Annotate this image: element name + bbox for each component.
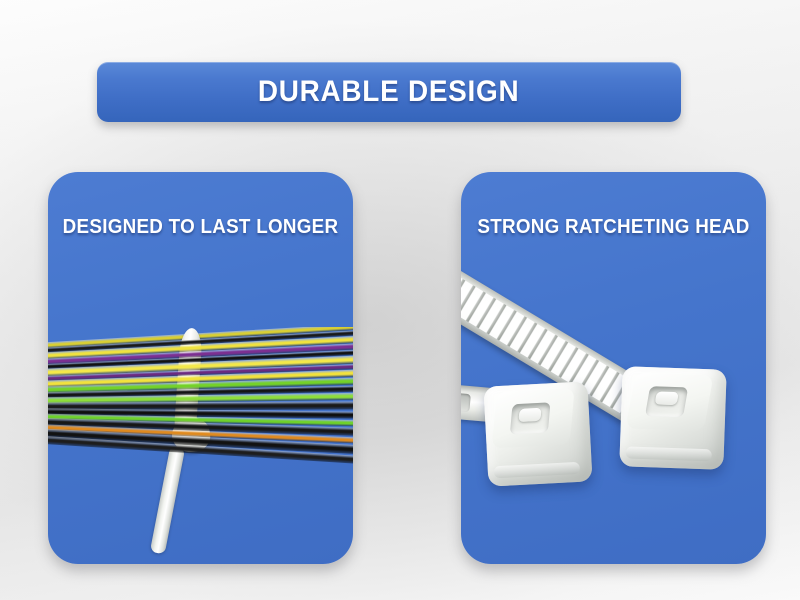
strap-stub-opening bbox=[461, 393, 471, 412]
tie-head-pawl bbox=[655, 391, 679, 405]
cable-tie-tail bbox=[150, 446, 185, 555]
cable-tie-head-right bbox=[619, 366, 726, 470]
header-banner: DURABLE DESIGN bbox=[97, 62, 681, 122]
feature-panel-strong-ratcheting-head: STRONG RATCHETING HEAD bbox=[461, 172, 766, 564]
panel-label-left: DESIGNED TO LAST LONGER bbox=[57, 216, 344, 239]
panel-label-right: STRONG RATCHETING HEAD bbox=[470, 216, 757, 239]
feature-panel-designed-to-last-longer: DESIGNED TO LAST LONGER bbox=[48, 172, 353, 564]
page-title: DURABLE DESIGN bbox=[258, 75, 520, 109]
tie-head-pawl bbox=[518, 408, 541, 422]
infographic-canvas: DURABLE DESIGN DESIGNED TO LAST LONGER S… bbox=[0, 0, 800, 600]
cable-tie-head-left bbox=[483, 381, 592, 486]
wire-bundle-strands bbox=[48, 327, 353, 467]
